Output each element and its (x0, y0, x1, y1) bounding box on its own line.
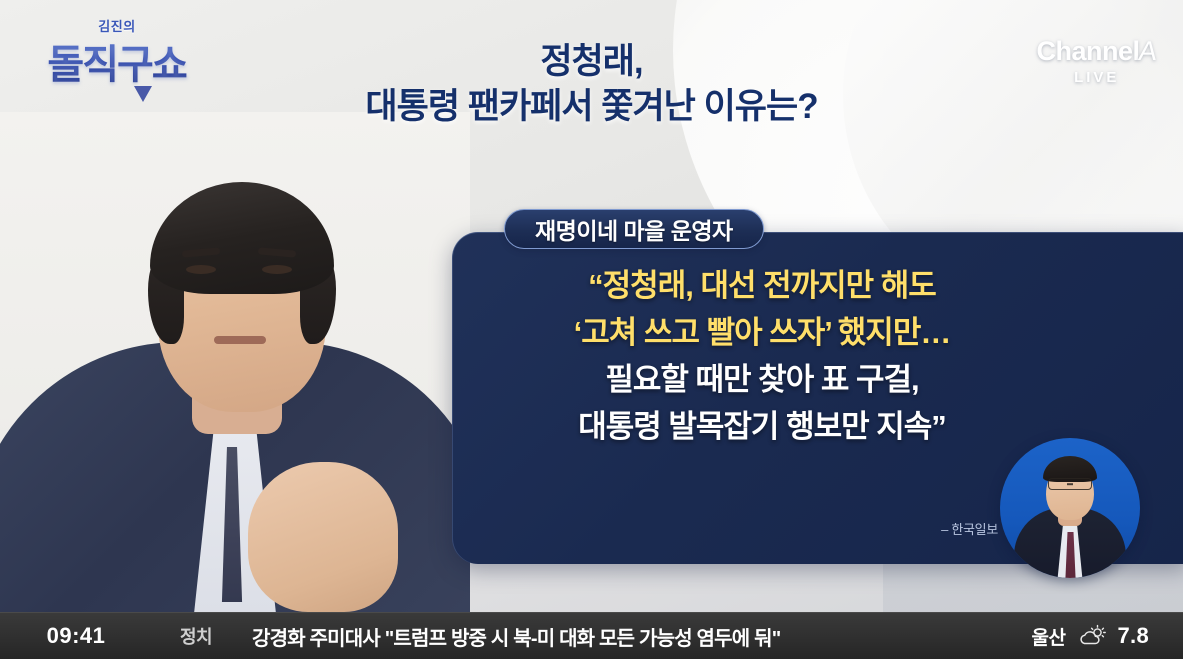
anchor-inset-avatar (1000, 438, 1140, 578)
ticker-headline: 강경화 주미대사 "트럼프 방중 시 북-미 대화 모든 가능성 염두에 둬" (240, 622, 1032, 651)
clock-time: 09:41 (0, 623, 152, 649)
subject-mouth (214, 336, 266, 344)
weather-temperature: 7.8 (1118, 623, 1149, 649)
quote-line-4: 대통령 발목잡기 행보만 지속” (452, 403, 1072, 450)
channel-logo: ChannelA LIVE (1036, 36, 1157, 86)
glasses-icon (1048, 478, 1092, 490)
partly-cloudy-icon (1077, 624, 1107, 648)
channel-name-text: Channel (1036, 36, 1139, 66)
subject-hands (248, 462, 398, 612)
quote-source-badge: 재명이네 마을 운영자 (504, 209, 764, 249)
headline-line-1: 정청래, (540, 42, 642, 81)
ticker-category: 정치 (152, 623, 240, 649)
quote-line-2: ‘고쳐 쓰고 빨아 쓰자’ 했지만… (452, 309, 1072, 356)
live-badge: LIVE (1036, 69, 1157, 86)
broadcast-stage: 김진의 돌직구쇼 정청래, 대통령 팬카페서 쫓겨난 이유는? ChannelA… (0, 0, 1183, 659)
subject-photo (0, 112, 470, 612)
page-title: 정청래, 대통령 팬카페서 쫓겨난 이유는? (0, 40, 1183, 130)
channel-name: ChannelA (1036, 36, 1157, 67)
weather-city: 울산 (1032, 623, 1066, 650)
quote-source-label: 재명이네 마을 운영자 (535, 212, 733, 246)
headline-line-2: 대통령 팬카페서 쫓겨난 이유는? (0, 85, 1183, 130)
quote-line-1: “정청래, 대선 전까지만 해도 (452, 262, 1072, 309)
channel-a-mark-icon: A (1137, 36, 1159, 67)
quote-attribution: – 한국일보 (452, 519, 998, 538)
quote-text-block: “정청래, 대선 전까지만 해도 ‘고쳐 쓰고 빨아 쓰자’ 했지만… 필요할 … (452, 262, 1072, 450)
subject-eye-right (262, 265, 292, 274)
subject-eye-left (186, 265, 216, 274)
quote-line-3: 필요할 때만 찾아 표 구걸, (452, 356, 1072, 403)
weather-widget: 울산 7.8 (1032, 623, 1183, 650)
news-ticker-bar: 09:41 정치 강경화 주미대사 "트럼프 방중 시 북-미 대화 모든 가능… (0, 612, 1183, 659)
